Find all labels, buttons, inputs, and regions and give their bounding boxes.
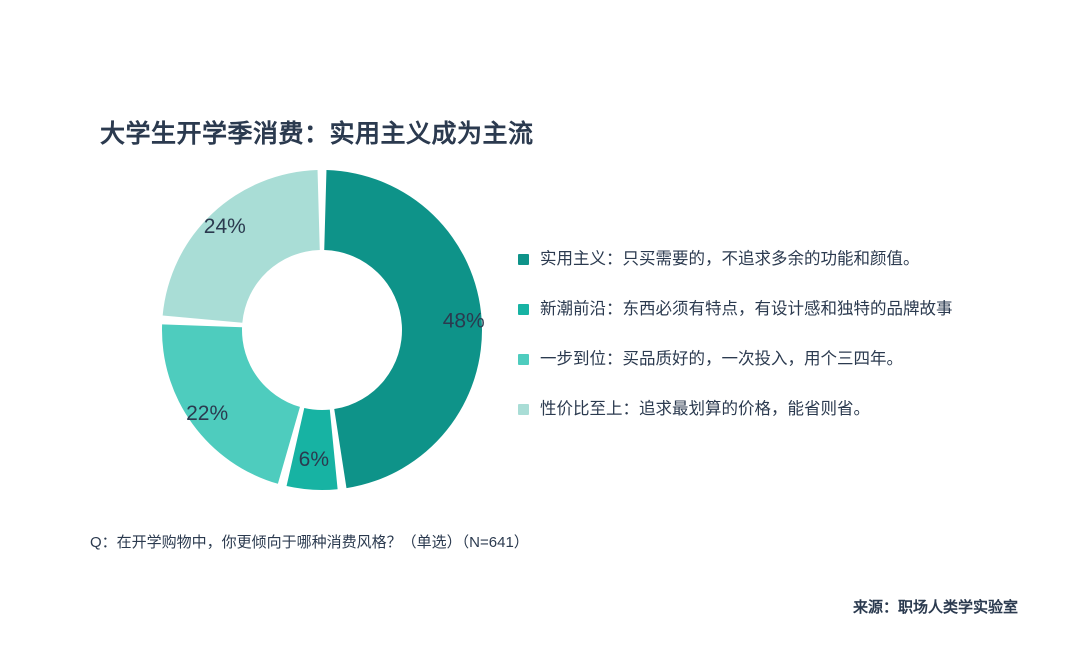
legend-item-value-first[interactable]: 性价比至上：追求最划算的价格，能省则省。 [518, 398, 1038, 448]
legend-item-one-step[interactable]: 一步到位：买品质好的，一次投入，用个三四年。 [518, 348, 1038, 398]
survey-question-note: Q：在开学购物中，你更倾向于哪种消费风格？（单选）（N=641） [90, 531, 529, 552]
page-title: 大学生开学季消费：实用主义成为主流 [100, 114, 534, 150]
legend-swatch-icon [518, 304, 529, 315]
legend-swatch-icon [518, 254, 529, 265]
legend-item-label: 新潮前沿：东西必须有特点，有设计感和独特的品牌故事 [540, 298, 953, 320]
slice-value-label: 6% [299, 448, 329, 471]
legend-swatch-icon [518, 404, 529, 415]
legend-item-label: 实用主义：只买需要的，不追求多余的功能和颜值。 [540, 248, 920, 270]
chart-legend: 实用主义：只买需要的，不追求多余的功能和颜值。 新潮前沿：东西必须有特点，有设计… [518, 248, 1038, 448]
donut-svg: 48%6%22%24% [152, 160, 492, 500]
donut-slice[interactable] [163, 170, 320, 323]
donut-chart: 48%6%22%24% [152, 160, 492, 500]
legend-item-label: 性价比至上：追求最划算的价格，能省则省。 [540, 398, 870, 420]
source-note: 来源：职场人类学实验室 [853, 596, 1018, 617]
slide-canvas: 大学生开学季消费：实用主义成为主流 48%6%22%24% 实用主义：只买需要的… [0, 0, 1080, 650]
legend-item-label: 一步到位：买品质好的，一次投入，用个三四年。 [540, 348, 903, 370]
legend-swatch-icon [518, 354, 529, 365]
legend-item-trendy[interactable]: 新潮前沿：东西必须有特点，有设计感和独特的品牌故事 [518, 298, 1038, 348]
slice-value-label: 24% [204, 215, 246, 238]
slice-value-label: 22% [186, 402, 228, 425]
slice-value-label: 48% [443, 310, 485, 333]
legend-item-practical[interactable]: 实用主义：只买需要的，不追求多余的功能和颜值。 [518, 248, 1038, 298]
donut-slice[interactable] [162, 324, 300, 483]
